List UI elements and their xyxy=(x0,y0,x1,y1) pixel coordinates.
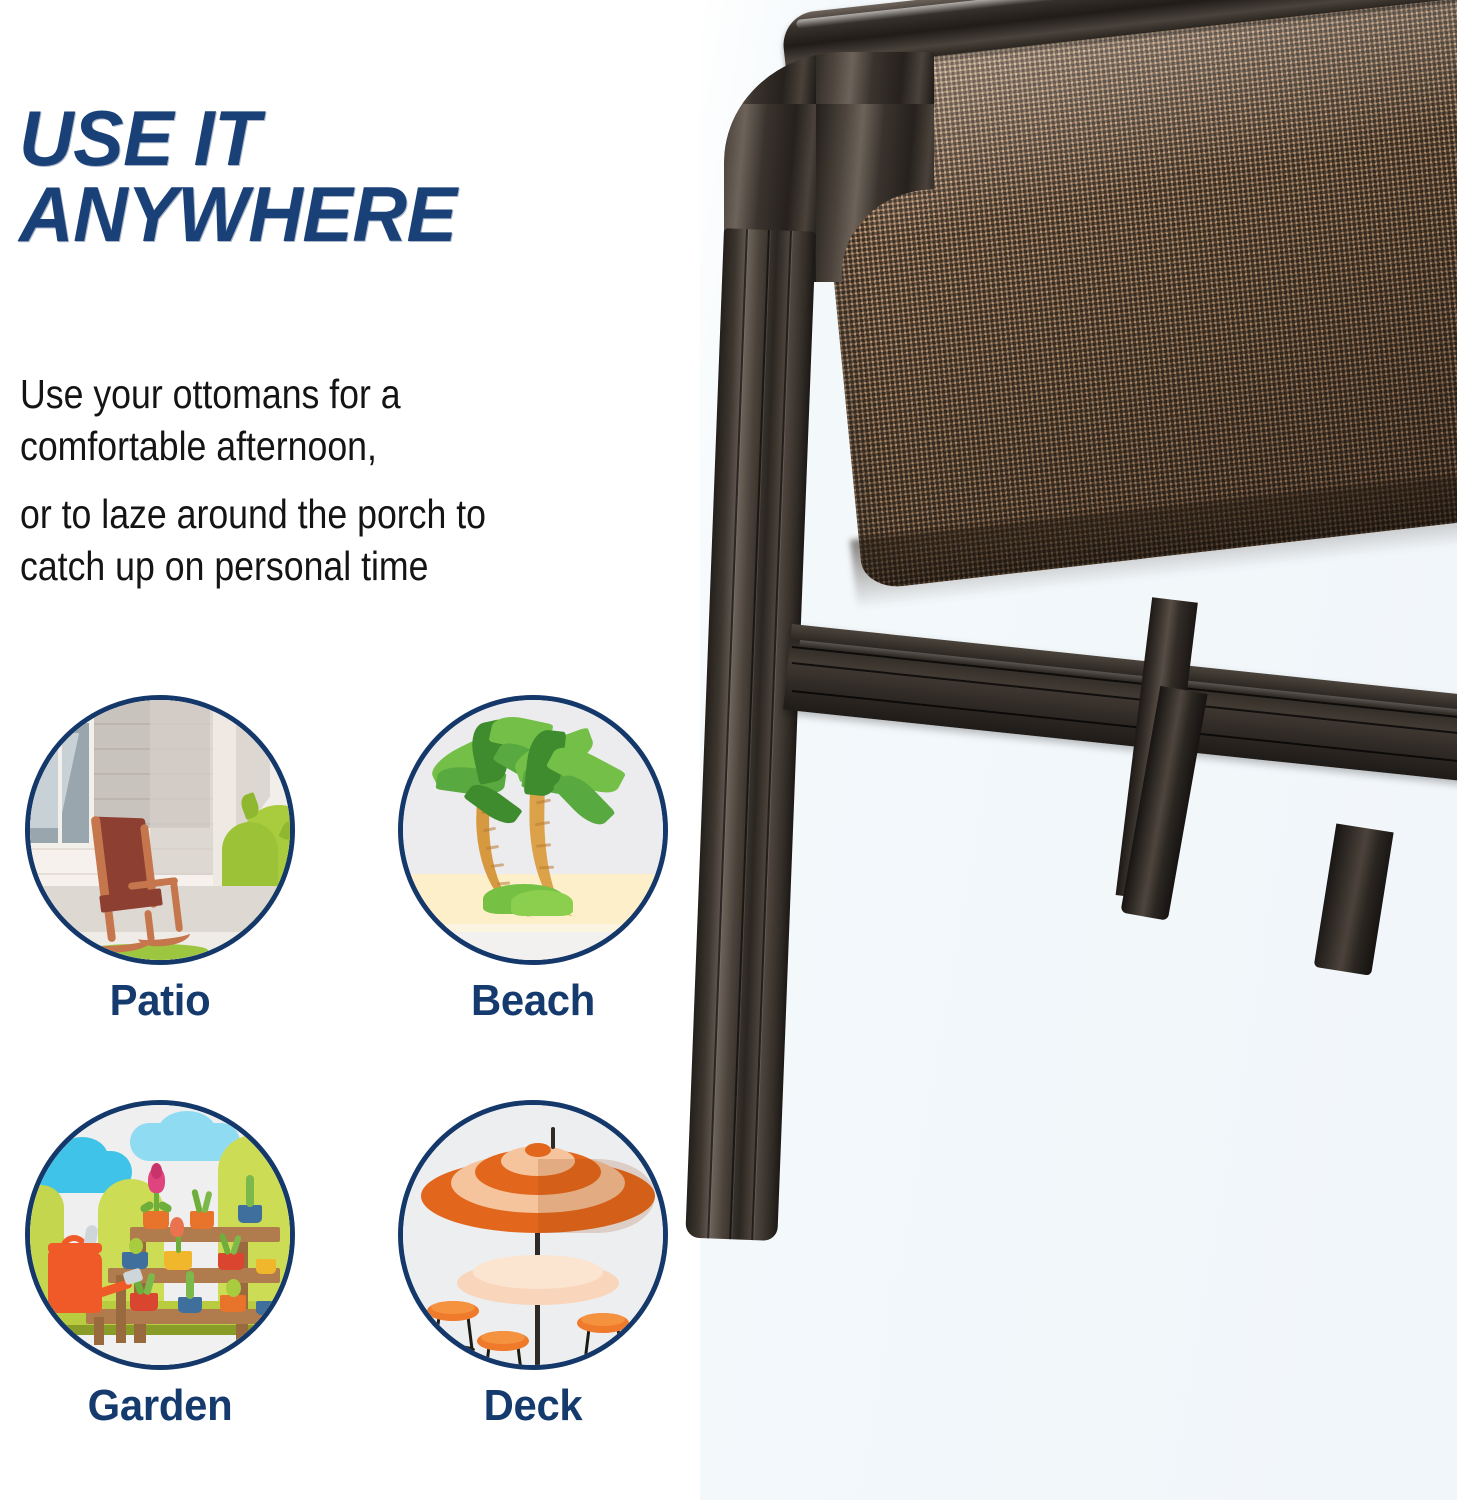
description-text: Use your ottomans for a comfortable afte… xyxy=(20,368,664,593)
use-case-label-patio: Patio xyxy=(18,979,303,1023)
headline-line-1: USE IT xyxy=(19,94,260,182)
use-case-label-deck: Deck xyxy=(391,1384,676,1428)
use-case-label-garden: Garden xyxy=(18,1384,303,1428)
description-line-4: catch up on personal time xyxy=(20,540,664,592)
use-case-patio[interactable]: Patio xyxy=(10,695,310,1023)
ottoman-product-image xyxy=(700,0,1457,1500)
leg-groove-2 xyxy=(729,230,770,1239)
description-line-3: or to laze around the porch to xyxy=(20,488,664,540)
use-case-deck[interactable]: Deck xyxy=(383,1100,683,1428)
marketing-banner: USE ITANYWHERE Use your ottomans for a c… xyxy=(0,0,1457,1500)
leg-groove-3 xyxy=(751,231,792,1240)
description-line-1: Use your ottomans for a xyxy=(20,368,664,420)
patio-umbrella-table-stools-icon xyxy=(398,1100,668,1370)
frame-left-post xyxy=(685,228,816,1241)
product-photo-panel xyxy=(700,0,1457,1500)
use-case-garden[interactable]: Garden xyxy=(10,1100,310,1428)
porch-rocking-chair-icon xyxy=(25,695,295,965)
description-line-2: comfortable afternoon, xyxy=(20,420,664,472)
use-case-beach[interactable]: Beach xyxy=(383,695,683,1023)
palm-trees-icon xyxy=(398,695,668,965)
leg-groove-1 xyxy=(707,229,748,1238)
use-case-grid: Patio xyxy=(0,695,700,1485)
page-title: USE ITANYWHERE xyxy=(19,100,679,253)
copy-column: USE ITANYWHERE Use your ottomans for a c… xyxy=(0,0,700,1500)
headline-line-2: ANYWHERE xyxy=(19,176,679,252)
plant-shelf-watering-can-icon xyxy=(25,1100,295,1370)
use-case-label-beach: Beach xyxy=(391,979,676,1023)
frame-right-leg xyxy=(1314,823,1394,975)
